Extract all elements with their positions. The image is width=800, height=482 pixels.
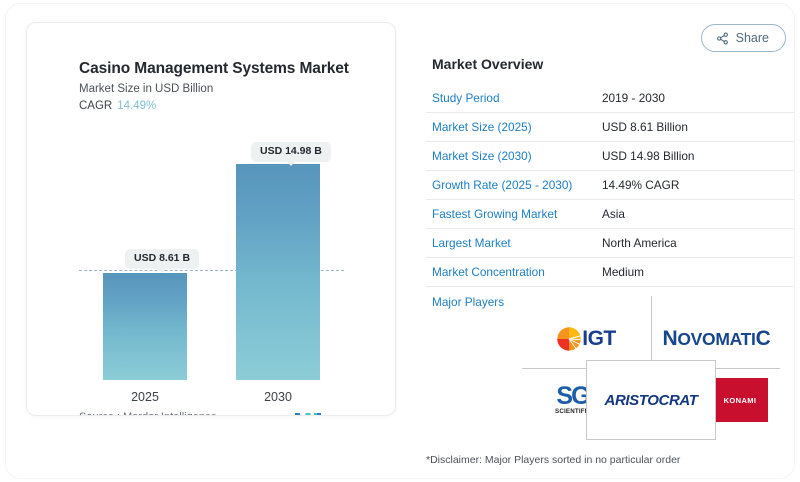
share-button-label: Share [736, 31, 769, 45]
konami-wordmark: KONAMI [724, 396, 757, 405]
konami-box: KONAMI [712, 378, 768, 422]
row-value: USD 14.98 Billion [602, 149, 694, 163]
row-label: Market Size (2025) [432, 120, 602, 134]
table-row: Market Size (2025) USD 8.61 Billion [426, 113, 794, 142]
sg-wordmark: SG [556, 385, 588, 408]
chart-card: Casino Management Systems Market Market … [26, 22, 396, 416]
table-row: Growth Rate (2025 - 2030) 14.49% CAGR [426, 171, 794, 200]
share-button[interactable]: Share [701, 24, 786, 52]
row-value: 2019 - 2030 [602, 91, 665, 105]
player-logo-aristocrat: ARISTOCRAT [586, 360, 716, 440]
major-players-logo-grid: IGT NOVOMATIC SG [522, 296, 780, 441]
row-value: Asia [602, 207, 625, 221]
row-label: Growth Rate (2025 - 2030) [432, 178, 602, 192]
row-value: USD 8.61 Billion [602, 120, 688, 134]
disclaimer-text: *Disclaimer: Major Players sorted in no … [426, 454, 680, 466]
screenshot-root: Casino Management Systems Market Market … [0, 0, 800, 482]
main-card: Casino Management Systems Market Market … [6, 4, 794, 478]
overview-table: Study Period 2019 - 2030 Market Size (20… [426, 84, 794, 317]
row-label: Market Size (2030) [432, 149, 602, 163]
table-row: Fastest Growing Market Asia [426, 200, 794, 229]
novomatic-mid: OVOMATI [677, 329, 755, 349]
table-row: Market Concentration Medium [426, 258, 794, 287]
novomatic-cap-c: C [756, 327, 771, 350]
row-label: Market Concentration [432, 265, 602, 279]
row-label: Largest Market [432, 236, 602, 250]
x-tick-2025: 2025 [103, 390, 187, 404]
bar-2030[interactable] [236, 164, 320, 380]
source-text: Source : Mordor Intelligence [79, 411, 217, 416]
market-overview-panel: Share Market Overview Study Period 2019 … [414, 14, 794, 478]
player-logo-igt: IGT [522, 314, 650, 364]
row-value: 14.49% CAGR [602, 178, 679, 192]
row-label: Fastest Growing Market [432, 207, 602, 221]
share-icon [716, 32, 729, 45]
table-row: Market Size (2030) USD 14.98 Billion [426, 142, 794, 171]
x-tick-2030: 2030 [236, 390, 320, 404]
row-value: Medium [602, 265, 644, 279]
novomatic-cap-n: N [662, 327, 677, 350]
row-value: North America [602, 236, 677, 250]
data-label-2025: USD 8.61 B [125, 249, 199, 269]
player-logo-novomatic: NOVOMATIC [653, 314, 780, 364]
bar-chart-plot: USD 8.61 B USD 14.98 B 2025 2030 [27, 23, 396, 416]
data-label-2030: USD 14.98 B [251, 142, 331, 162]
table-row: Study Period 2019 - 2030 [426, 84, 794, 113]
novomatic-wordmark: NOVOMATIC [662, 327, 770, 351]
igt-sunburst-icon [556, 326, 582, 352]
table-row: Largest Market North America [426, 229, 794, 258]
overview-title: Market Overview [432, 56, 543, 72]
igt-wordmark: IGT [582, 327, 616, 351]
mordor-intelligence-logo [295, 411, 321, 416]
aristocrat-wordmark: ARISTOCRAT [605, 392, 698, 409]
row-label: Study Period [432, 91, 602, 105]
bar-2025[interactable] [103, 273, 187, 380]
